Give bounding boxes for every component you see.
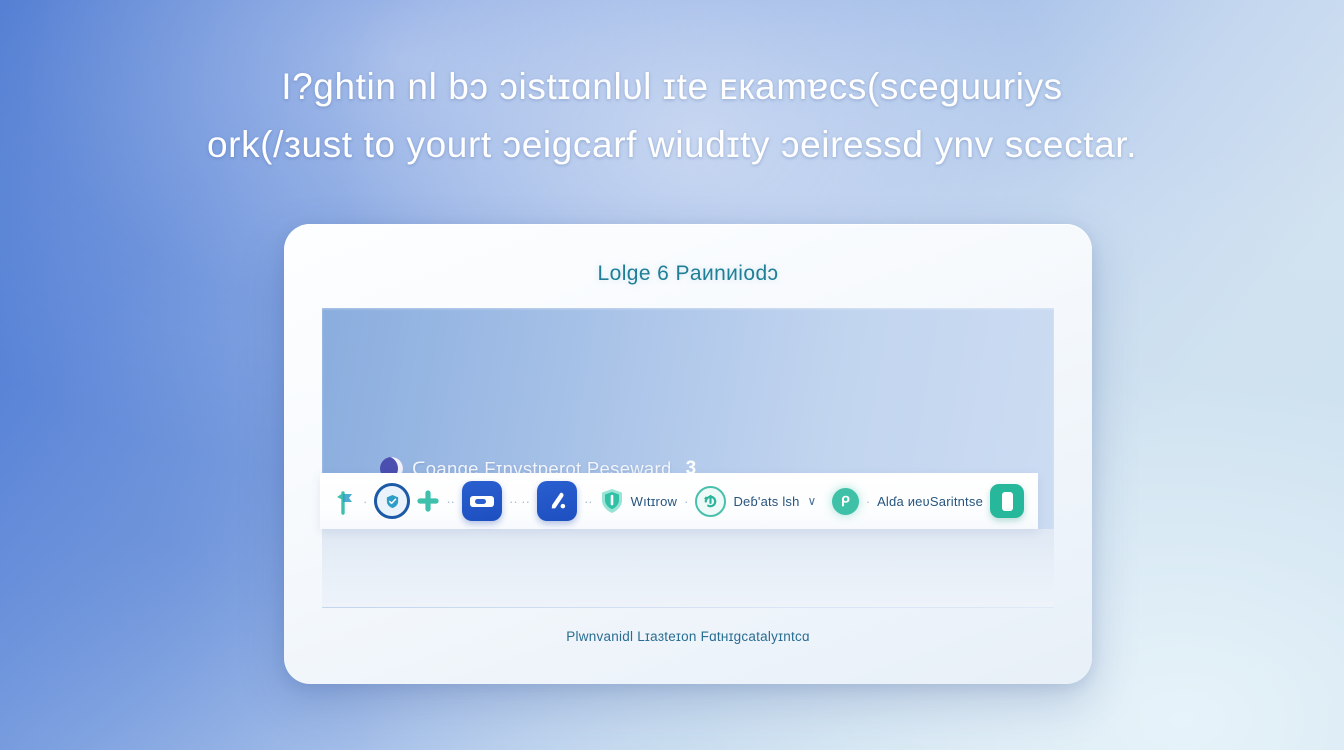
toolbar-plus-icon[interactable] xyxy=(417,490,439,512)
card-lower-band xyxy=(322,529,1054,607)
toolbar-label-window[interactable]: Wıtɪrow xyxy=(631,494,677,509)
vault-bar-icon xyxy=(1002,492,1013,511)
toolbar-separator-dots-3: ·· xyxy=(584,495,593,508)
card-title: Lolge 6 Pаиnиiodᴐ xyxy=(284,262,1092,286)
screenshot-stage: I?ghtin nl bᴐ ɔistɪɑnlᴜl ɪte ᴇкamɐcs(sce… xyxy=(0,0,1344,750)
toolbar-separator-dot-3: · xyxy=(866,495,870,508)
headline-line-2: ork(/ᴈust to yourt ᴐeigcarf wiudɪty ɔeir… xyxy=(70,116,1274,174)
toolbar-label-defaults[interactable]: Deɓ'ats lsh xyxy=(733,494,799,509)
toolbar-key-round-icon[interactable]: ᑭ xyxy=(832,488,859,515)
key-round-glyph: ᑭ xyxy=(841,494,850,508)
toolbar-vault-button[interactable] xyxy=(990,484,1024,518)
toolbar-separator-dot: · xyxy=(363,495,367,508)
toolbar-separator-dots-2: ·· ·· xyxy=(509,495,530,508)
headline-line-1: I?ghtin nl bᴐ ɔistɪɑnlᴜl ɪte ᴇкamɐcs(sce… xyxy=(70,58,1274,116)
toolbar-separator-dot-2: · xyxy=(684,495,688,508)
card-pill-icon xyxy=(470,496,494,507)
toolbar-separator-dots: ·· xyxy=(446,495,455,508)
toolbar-key-refresh-icon[interactable] xyxy=(695,486,726,517)
toolbar-edit-button[interactable] xyxy=(537,481,577,521)
pen-edit-icon xyxy=(546,490,568,512)
toolbar-chevron-down-icon[interactable]: ∨ xyxy=(808,494,817,508)
hero-headline: I?ghtin nl bᴐ ɔistɪɑnlᴜl ɪte ᴇкamɐcs(sce… xyxy=(0,58,1344,174)
toolbar-shield-badge-icon[interactable] xyxy=(374,483,410,519)
toolbar-label-add-new[interactable]: Alɗa ᴎeʋSаritntse xyxy=(877,494,983,509)
card-toolbar: · ·· ·· ·· xyxy=(320,473,1038,529)
toolbar-shield-teal-icon[interactable] xyxy=(600,487,624,515)
password-card: Lolge 6 Pаиnиiodᴐ ᑕoange Fɪnvstperot Pes… xyxy=(284,224,1092,684)
toolbar-arrow-flag-icon[interactable] xyxy=(334,487,356,515)
toolbar-card-button[interactable] xyxy=(462,481,502,521)
card-footer-text: Plwnvanidl Lɪaɜteɪon Fɑtʜɪgcatalyɪntcɑ xyxy=(284,629,1092,644)
